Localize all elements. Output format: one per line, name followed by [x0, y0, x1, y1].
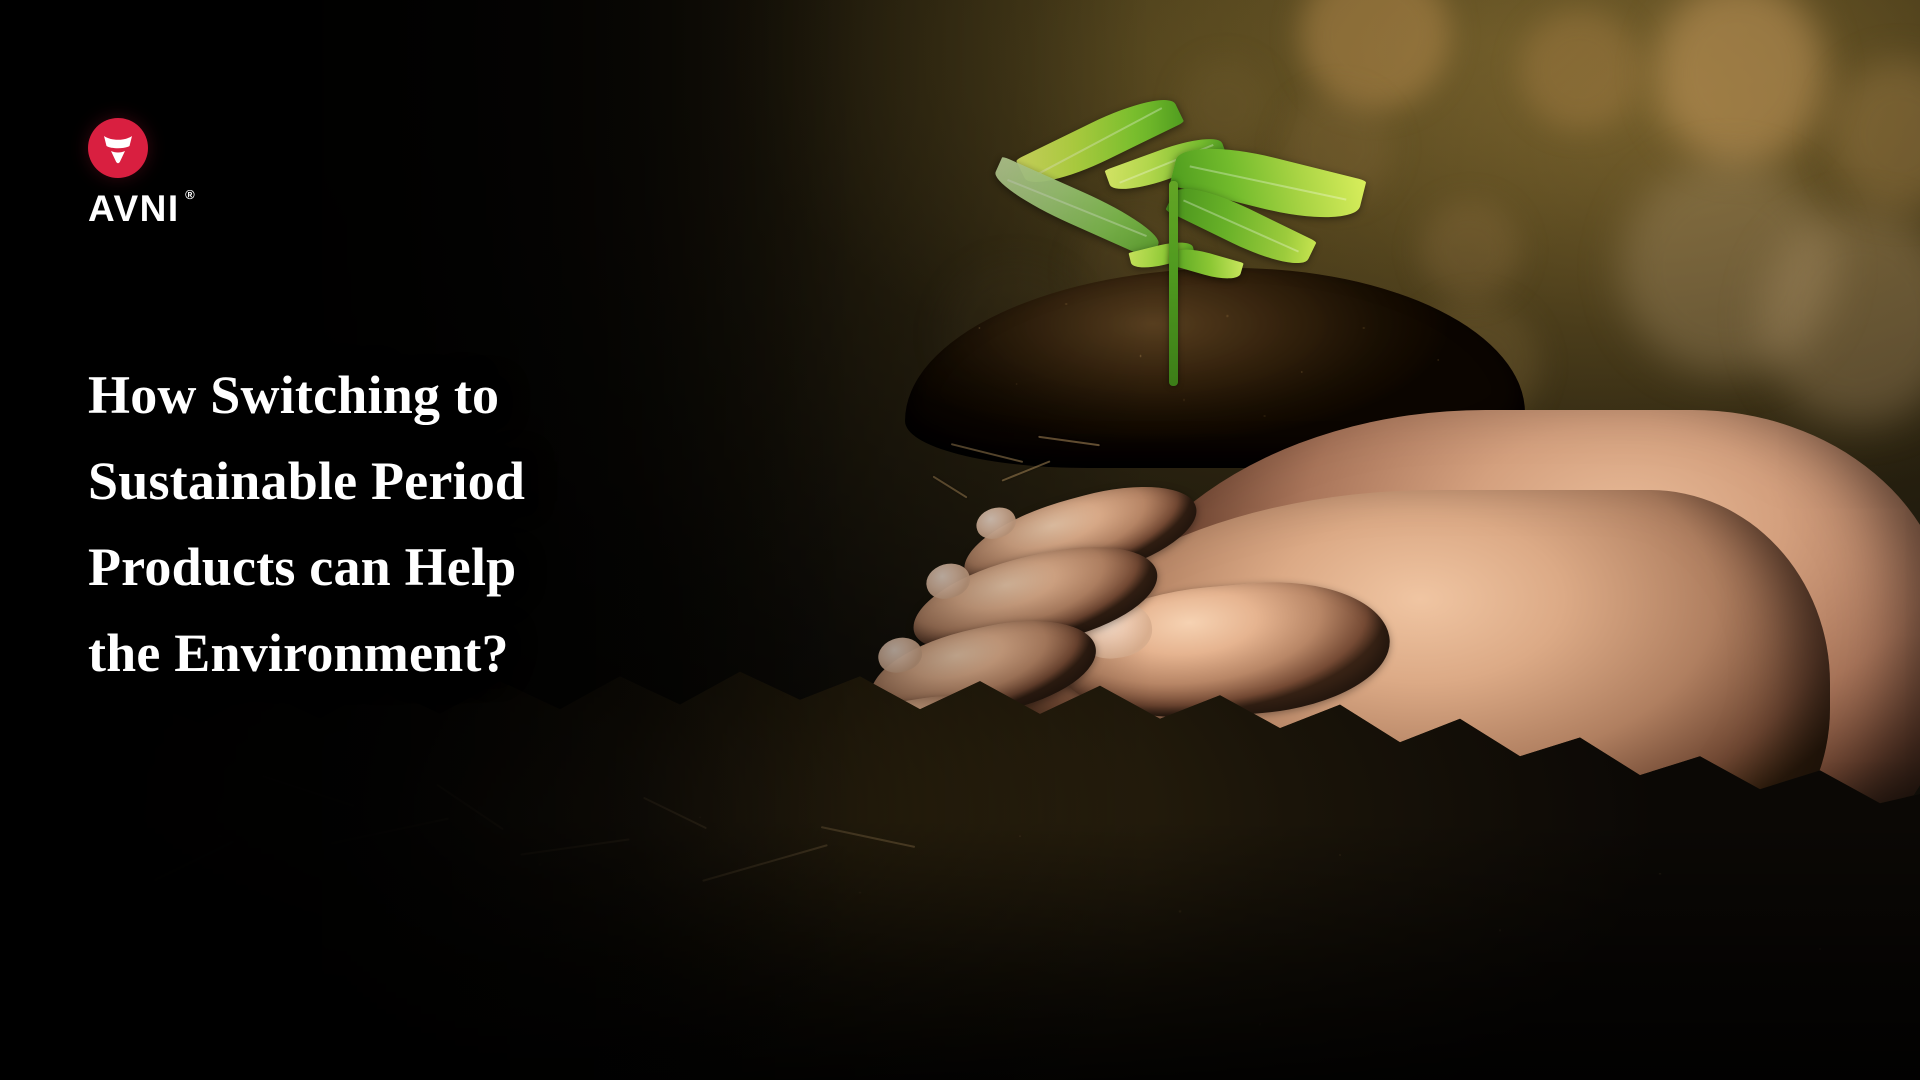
brand-name: AVNI: [88, 188, 180, 229]
brand-logo[interactable]: AVNI ®: [88, 118, 180, 227]
headline-line-4: the Environment?: [88, 610, 848, 696]
registered-trademark-symbol: ®: [185, 188, 195, 201]
headline-line-2: Sustainable Period: [88, 438, 848, 524]
blog-hero-banner: AVNI ® How Switching to Sustainable Peri…: [0, 0, 1920, 1080]
banner-content: AVNI ® How Switching to Sustainable Peri…: [0, 0, 1920, 1080]
headline-line-1: How Switching to: [88, 352, 848, 438]
brand-wordmark: AVNI ®: [88, 190, 180, 227]
menstrual-cup-icon: [88, 118, 148, 178]
page-title: How Switching to Sustainable Period Prod…: [88, 352, 848, 696]
headline-line-3: Products can Help: [88, 524, 848, 610]
